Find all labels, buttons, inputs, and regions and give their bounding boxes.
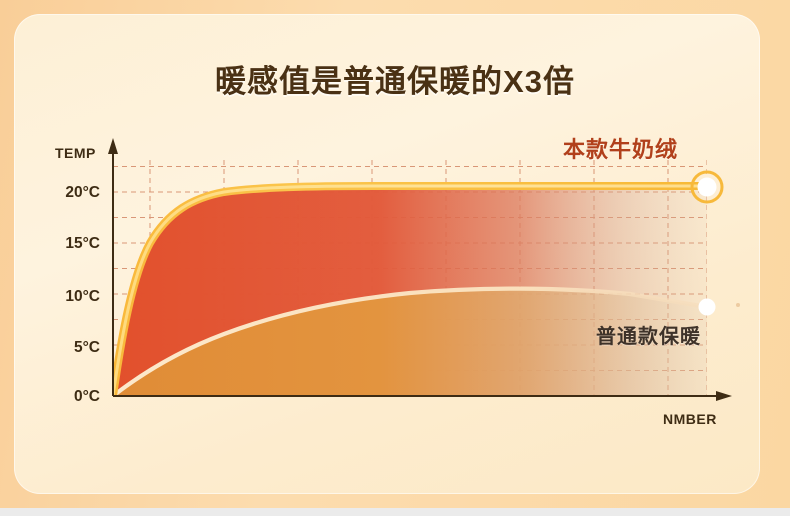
x-axis-title: NMBER xyxy=(663,411,717,427)
y-axis-tick-0: 0°C xyxy=(40,388,100,406)
y-axis-tick-5: 5°C xyxy=(40,339,100,357)
arrow-up-icon xyxy=(108,138,118,154)
legend-label-ordinary: 普通款保暖 xyxy=(596,320,701,349)
y-axis-tick-20: 20°C xyxy=(40,184,100,202)
y-axis-tick-10: 10°C xyxy=(40,288,100,306)
temperature-area-chart xyxy=(0,0,790,516)
promo-chart-card: 暖感值是普通保暖的X3倍 xyxy=(0,0,790,516)
y-axis-title: TEMP xyxy=(55,145,96,161)
decorative-dot xyxy=(736,303,740,307)
legend-label-milk-fleece: 本款牛奶绒 xyxy=(563,132,678,164)
arrow-right-icon xyxy=(716,391,732,401)
series-ordinary-endpoint-marker[interactable] xyxy=(699,299,716,316)
y-axis-tick-15: 15°C xyxy=(40,235,100,253)
